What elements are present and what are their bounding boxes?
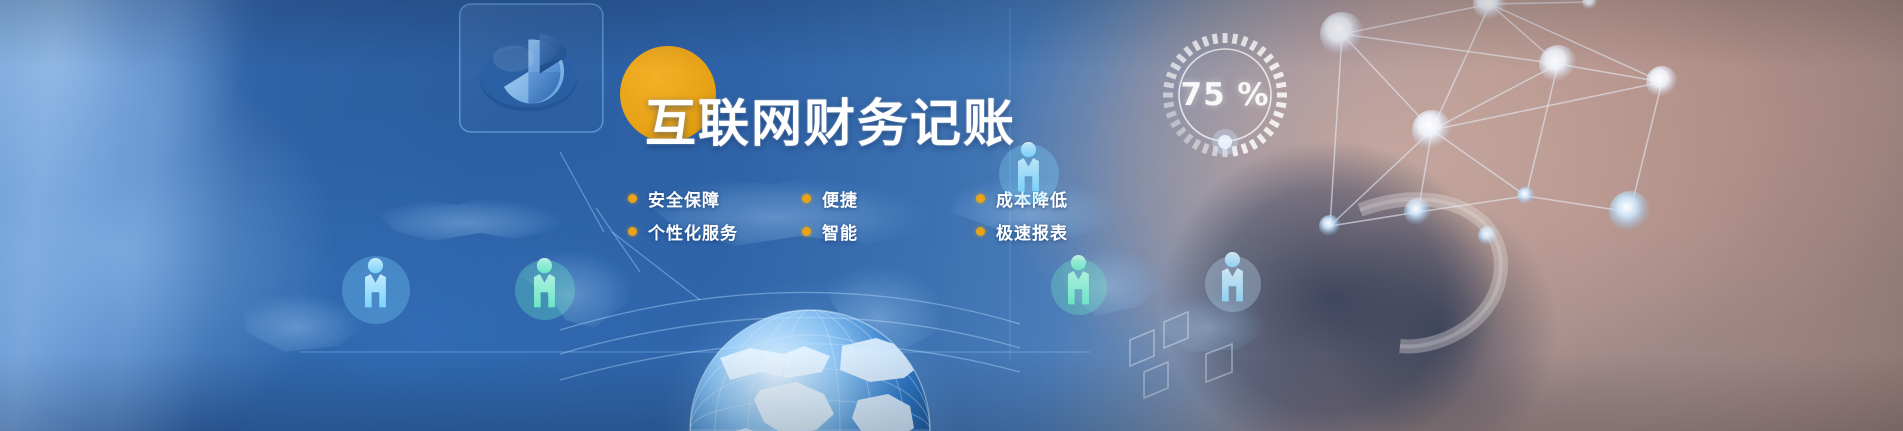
bullet-dot-icon: [802, 227, 811, 236]
feature-label: 成本降低: [996, 186, 1068, 211]
page-title: 互联网财务记账: [645, 98, 1016, 152]
feature-label: 安全保障: [648, 186, 720, 211]
feature-item-security[interactable]: 安全保障: [628, 186, 728, 211]
gauge-value-label: 75 %: [1162, 32, 1288, 158]
feature-row-1: 安全保障 便捷 成本降低: [628, 186, 1086, 211]
percentage-gauge: 75 %: [1162, 32, 1288, 158]
isometric-box-decor: [1110, 300, 1300, 431]
svg-text:$: $: [394, 142, 401, 153]
feature-label: 便捷: [822, 186, 858, 211]
svg-text:$: $: [333, 156, 339, 166]
clock-check-icon: [201, 172, 223, 194]
bullet-dot-icon: [628, 194, 637, 203]
feature-item-cost-reduction[interactable]: 成本降低: [976, 186, 1086, 211]
svg-text:$: $: [270, 167, 278, 180]
bullet-dot-icon: [976, 227, 985, 236]
world-globe: [600, 240, 1020, 431]
bullet-dot-icon: [802, 194, 811, 203]
business-icon-cube-grid: $ $ $: [150, 0, 440, 240]
pie-chart-panel: [455, 0, 615, 144]
marketing-banner: $ $ $: [0, 0, 1903, 431]
bullet-dot-icon: [628, 227, 637, 236]
feature-item-convenient[interactable]: 便捷: [802, 186, 902, 211]
bullet-dot-icon: [976, 194, 985, 203]
